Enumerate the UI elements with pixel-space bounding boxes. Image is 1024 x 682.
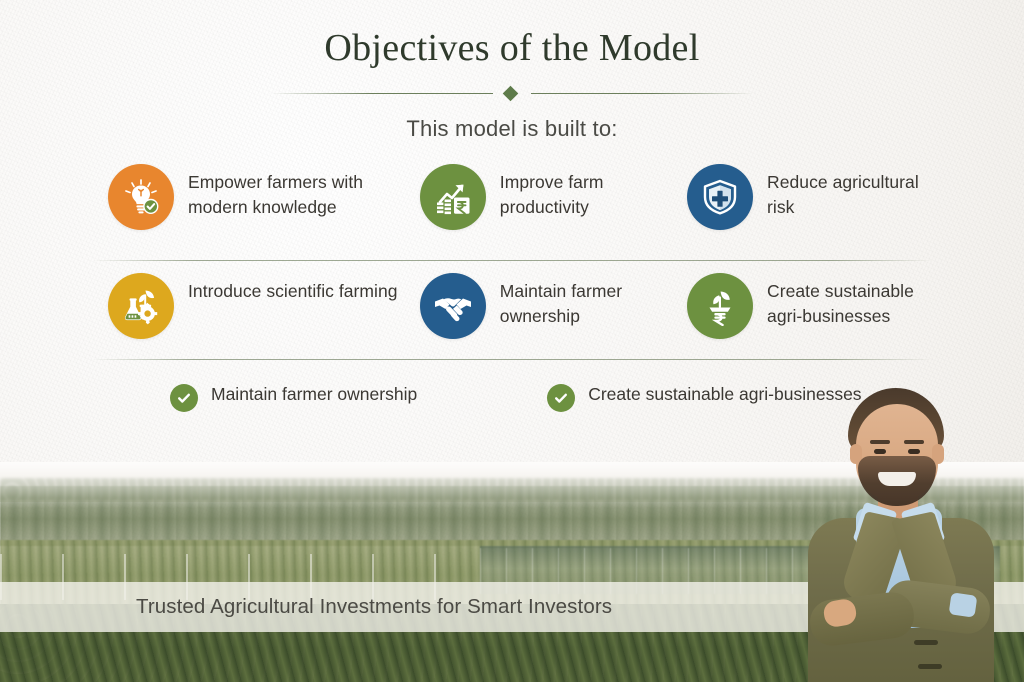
sprout-rupee-icon xyxy=(687,273,753,339)
objective-label: Improve farm productivity xyxy=(500,164,687,220)
page-subtitle: This model is built to: xyxy=(0,116,1024,142)
check-circle-icon xyxy=(170,384,198,412)
presenter-jacket-button-top xyxy=(914,640,938,645)
objectives-row-2: Introduce scientific farming Maintain fa… xyxy=(0,261,1024,359)
objective-item-reduce-risk[interactable]: Reduce agricultural risk xyxy=(687,164,924,230)
objectives-grid: Empower farmers with modern knowledge xyxy=(0,164,1024,412)
check-circle-icon xyxy=(547,384,575,412)
checklist-item-agri-businesses[interactable]: Create sustainable agri-businesses xyxy=(547,382,861,412)
objective-item-scientific-farming[interactable]: Introduce scientific farming xyxy=(108,273,420,339)
objective-label: Maintain farmer ownership xyxy=(500,273,687,329)
objective-label: Introduce scientific farming xyxy=(188,273,398,304)
presenter-jacket-button-bottom xyxy=(918,664,942,669)
objective-item-agri-businesses[interactable]: Create sustainable agri-businesses xyxy=(687,273,924,339)
objective-item-farmer-ownership[interactable]: Maintain farmer ownership xyxy=(420,273,687,339)
slide-canvas: Trusted Agricultural Investments for Sma… xyxy=(0,0,1024,682)
objective-item-improve-productivity[interactable]: Improve farm productivity xyxy=(420,164,687,230)
presenter-smile xyxy=(878,472,916,486)
checklist-label: Create sustainable agri-businesses xyxy=(588,382,861,407)
presenter-eye-left xyxy=(874,449,886,454)
objective-label: Reduce agricultural risk xyxy=(767,164,924,220)
flask-plant-gear-icon xyxy=(108,273,174,339)
presenter-shirt-cuff xyxy=(949,592,978,617)
objectives-row-1: Empower farmers with modern knowledge xyxy=(0,164,1024,260)
presenter-photo xyxy=(800,388,1018,682)
lightbulb-check-icon xyxy=(108,164,174,230)
objective-item-empower-farmers[interactable]: Empower farmers with modern knowledge xyxy=(108,164,420,230)
checklist-item-farmer-ownership[interactable]: Maintain farmer ownership xyxy=(170,382,417,412)
checklist-row: Maintain farmer ownership Create sustain… xyxy=(0,360,1024,412)
page-title: Objectives of the Model xyxy=(0,0,1024,70)
presenter-eye-right xyxy=(908,449,920,454)
tagline-text: Trusted Agricultural Investments for Sma… xyxy=(136,595,612,619)
objective-label: Create sustainable agri-businesses xyxy=(767,273,924,329)
divider-line-left xyxy=(271,93,493,94)
presenter-brow-right xyxy=(904,440,924,444)
checklist-label: Maintain farmer ownership xyxy=(211,382,417,407)
shield-plus-icon xyxy=(687,164,753,230)
diamond-icon xyxy=(503,86,519,102)
objective-label: Empower farmers with modern knowledge xyxy=(188,164,420,220)
handshake-icon xyxy=(420,273,486,339)
title-divider xyxy=(271,88,753,100)
slide-header: Objectives of the Model This model is bu… xyxy=(0,0,1024,142)
presenter-brow-left xyxy=(870,440,890,444)
growth-chart-rupee-icon xyxy=(420,164,486,230)
divider-line-right xyxy=(531,93,753,94)
